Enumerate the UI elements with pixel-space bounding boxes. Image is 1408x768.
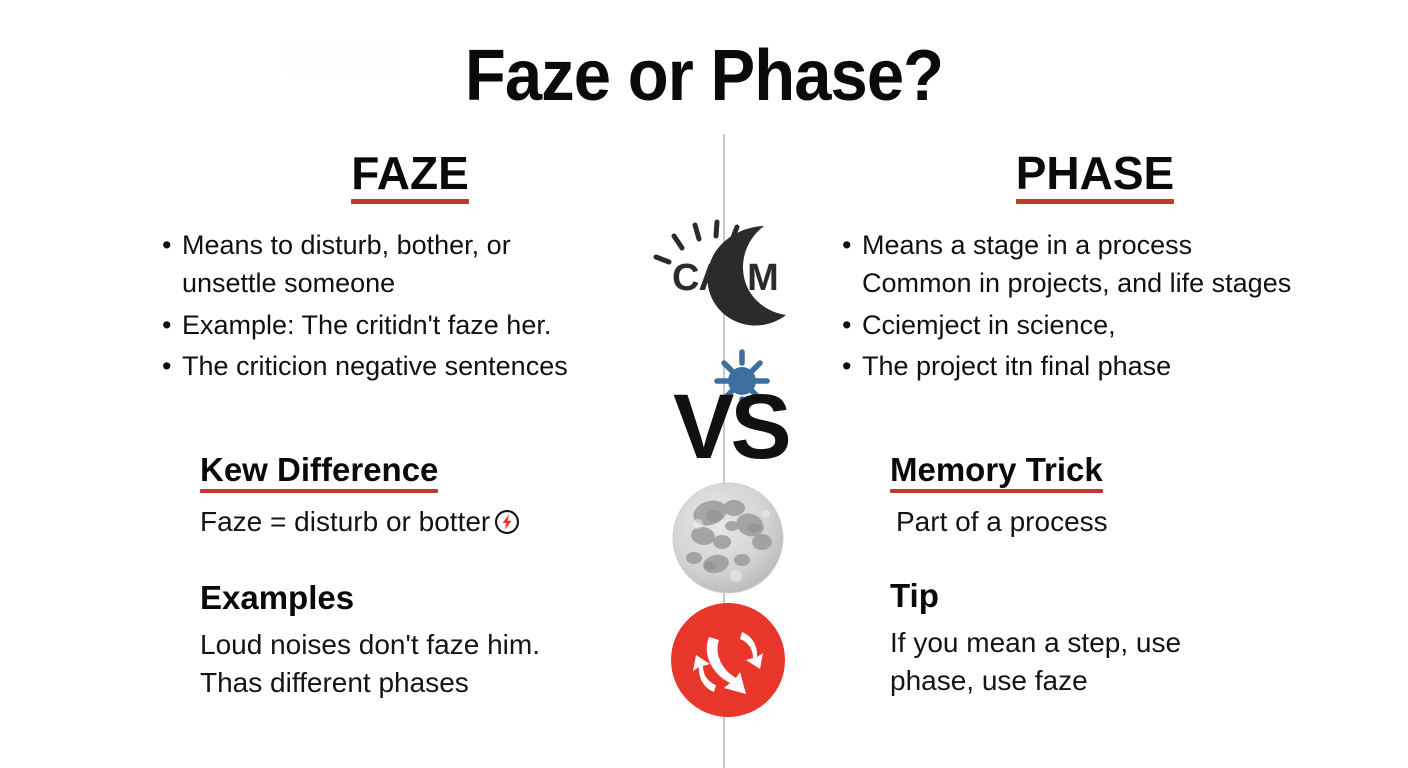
list-item-text: Means to disturb, bother, or <box>182 230 511 260</box>
list-item: • Means a stage in a process Common in p… <box>840 226 1350 303</box>
crescent-moon-calm-icon: CALM <box>652 218 798 330</box>
faze-heading: FAZE <box>351 150 469 197</box>
svg-text:CALM: CALM <box>672 257 778 299</box>
infographic-page: Faze or Phase? FAZE • Means to disturb, … <box>0 0 1408 768</box>
list-item-text: Example: The critidn't faze her. <box>182 310 551 340</box>
bullet-glyph: • <box>842 347 851 385</box>
sun-versus-icon: VS <box>668 348 790 466</box>
tip-line-2: phase, use faze <box>890 662 1360 700</box>
key-difference-underline <box>200 489 438 493</box>
tip-body: If you mean a step, use phase, use faze <box>890 624 1360 701</box>
examples-heading-block: Examples <box>200 580 354 616</box>
key-difference-heading-block: Kew Difference <box>200 452 438 493</box>
list-item-text: The criticion negative sentences <box>182 351 568 381</box>
section-key-difference: Kew Difference Faze = disturb or botter <box>200 452 670 541</box>
list-item-text: The project itn final phase <box>862 351 1171 381</box>
bullet-glyph: • <box>162 347 171 385</box>
high-voltage-icon <box>494 507 520 533</box>
memory-trick-text: Part of a process <box>896 503 1360 541</box>
memory-trick-heading: Memory Trick <box>890 452 1103 488</box>
svg-text:VS: VS <box>673 376 788 466</box>
full-moon-photo-icon <box>670 480 786 596</box>
faze-heading-block: FAZE <box>351 150 469 204</box>
list-item: • Cciemject in science, <box>840 306 1350 344</box>
key-difference-heading: Kew Difference <box>200 452 438 488</box>
column-phase: PHASE • Means a stage in a process Commo… <box>840 150 1350 388</box>
bullet-glyph: • <box>162 226 171 264</box>
red-cycle-arrows-icon <box>668 600 788 720</box>
examples-line-1: Loud noises don't faze him. <box>200 626 670 664</box>
examples-heading: Examples <box>200 580 354 616</box>
bullet-glyph: • <box>842 306 851 344</box>
section-tip: Tip If you mean a step, use phase, use f… <box>890 578 1360 700</box>
faze-bullet-list: • Means to disturb, bother, or unsettle … <box>160 226 660 385</box>
list-item-text: Cciemject in science, <box>862 310 1116 340</box>
list-item-text: Means a stage in a process <box>862 230 1192 260</box>
bullet-glyph: • <box>162 306 171 344</box>
tip-heading-block: Tip <box>890 578 939 614</box>
phase-heading-wrap: PHASE <box>840 150 1350 204</box>
phase-heading-underline <box>1016 199 1174 204</box>
list-item-subtext: Common in projects, and life stages <box>862 264 1350 302</box>
key-difference-body: Faze = disturb or botter <box>200 503 670 541</box>
memory-trick-underline <box>890 489 1103 493</box>
examples-line-2: Thas different phases <box>200 664 670 702</box>
memory-trick-heading-block: Memory Trick <box>890 452 1103 493</box>
tip-heading: Tip <box>890 578 939 614</box>
column-faze: FAZE • Means to disturb, bother, or unse… <box>160 150 660 388</box>
list-item-subtext: unsettle someone <box>182 264 660 302</box>
list-item: • The project itn final phase <box>840 347 1350 385</box>
section-examples: Examples Loud noises don't faze him. Tha… <box>200 580 670 702</box>
key-difference-text: Faze = disturb or botter <box>200 506 490 537</box>
examples-body: Loud noises don't faze him. Thas differe… <box>200 626 670 703</box>
memory-trick-body: Part of a process <box>890 503 1360 541</box>
section-memory-trick: Memory Trick Part of a process <box>890 452 1360 541</box>
phase-heading: PHASE <box>1016 150 1174 197</box>
bullet-glyph: • <box>842 226 851 264</box>
phase-heading-block: PHASE <box>1016 150 1174 204</box>
tip-line-1: If you mean a step, use <box>890 624 1360 662</box>
page-title: Faze or Phase? <box>49 40 1358 112</box>
list-item: • Means to disturb, bother, or unsettle … <box>160 226 660 303</box>
faze-heading-underline <box>351 199 469 204</box>
faze-heading-wrap: FAZE <box>160 150 660 204</box>
phase-bullet-list: • Means a stage in a process Common in p… <box>840 226 1350 385</box>
list-item: • The criticion negative sentences <box>160 347 660 385</box>
list-item: • Example: The critidn't faze her. <box>160 306 660 344</box>
